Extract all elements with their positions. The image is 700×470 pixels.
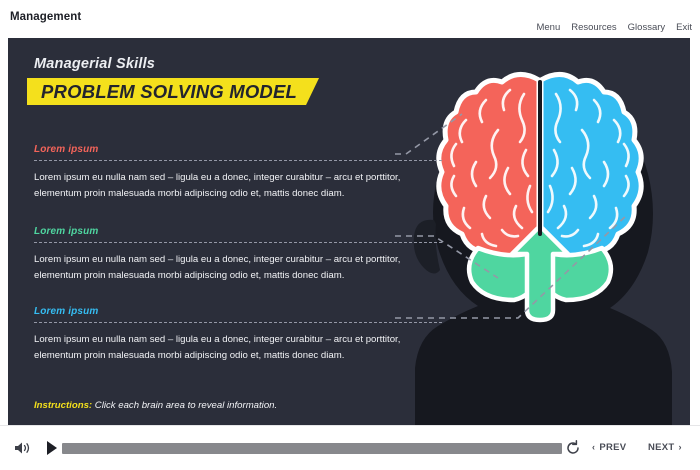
- content-block-3-heading: Lorem ipsum: [34, 306, 442, 317]
- brain-stem-arrow[interactable]: [512, 226, 568, 320]
- head-silhouette-shape: [415, 98, 672, 425]
- chevron-left-icon: ‹: [592, 443, 595, 452]
- slide-main-title: PROBLEM SOLVING MODEL: [41, 81, 297, 103]
- slide-panel: Managerial Skills PROBLEM SOLVING MODEL …: [8, 38, 690, 425]
- instructions-text: Click each brain area to reveal informat…: [95, 400, 277, 411]
- progress-bar[interactable]: [62, 443, 562, 454]
- content-block-2-divider: [34, 242, 442, 243]
- instructions-label: Instructions:: [34, 400, 92, 411]
- brain-left-gyri: [451, 90, 532, 246]
- content-block-2-body: Lorem ipsum eu nulla nam sed – ligula eu…: [34, 252, 442, 283]
- replay-icon[interactable]: [565, 440, 581, 456]
- brain-cerebellum-left[interactable]: [469, 248, 536, 300]
- content-block-2: Lorem ipsum Lorem ipsum eu nulla nam sed…: [34, 226, 442, 283]
- content-block-1-divider: [34, 160, 442, 161]
- prev-button-label: PREV: [599, 442, 626, 453]
- brain-illustration: [439, 74, 641, 320]
- player-bar: ‹ PREV NEXT ›: [0, 425, 700, 470]
- brain-right-hemisphere[interactable]: [541, 74, 641, 260]
- content-block-1: Lorem ipsum Lorem ipsum eu nulla nam sed…: [34, 144, 442, 201]
- content-block-1-heading: Lorem ipsum: [34, 144, 442, 155]
- chevron-right-icon: ›: [679, 443, 682, 452]
- play-icon[interactable]: [45, 440, 59, 456]
- instructions-row: Instructions: Click each brain area to r…: [34, 400, 277, 411]
- volume-icon[interactable]: [14, 441, 30, 455]
- top-header: Management Menu Resources Glossary Exit: [0, 0, 700, 38]
- next-button[interactable]: NEXT ›: [648, 442, 682, 453]
- content-block-2-heading: Lorem ipsum: [34, 226, 442, 237]
- content-block-3: Lorem ipsum Lorem ipsum eu nulla nam sed…: [34, 306, 442, 363]
- nav-link-resources[interactable]: Resources: [571, 22, 616, 33]
- content-block-3-body: Lorem ipsum eu nulla nam sed – ligula eu…: [34, 332, 442, 363]
- brain-cerebellum-right[interactable]: [544, 248, 611, 300]
- slide-title-banner: PROBLEM SOLVING MODEL: [27, 78, 319, 105]
- brain-right-gyri: [548, 90, 629, 246]
- brain-left-hemisphere[interactable]: [439, 74, 539, 260]
- page-title: Management: [10, 11, 81, 23]
- slide-eyebrow-title: Managerial Skills: [34, 56, 155, 72]
- prev-button[interactable]: ‹ PREV: [592, 442, 626, 453]
- next-button-label: NEXT: [648, 442, 675, 453]
- nav-link-exit[interactable]: Exit: [676, 22, 692, 33]
- content-block-1-body: Lorem ipsum eu nulla nam sed – ligula eu…: [34, 170, 442, 201]
- header-nav: Menu Resources Glossary Exit: [536, 22, 692, 33]
- content-block-3-divider: [34, 322, 442, 323]
- nav-link-menu[interactable]: Menu: [536, 22, 560, 33]
- nav-link-glossary[interactable]: Glossary: [628, 22, 665, 33]
